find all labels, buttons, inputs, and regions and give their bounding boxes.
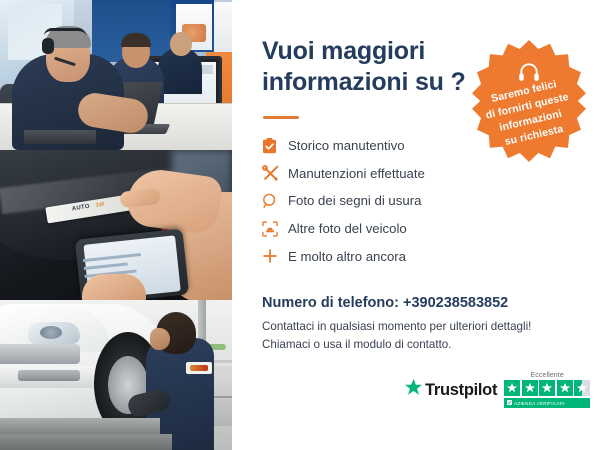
feature-label: E molto altro ancora [288, 249, 406, 264]
contact-line-2: Chiamaci o usa il modulo di contatto. [262, 338, 451, 351]
tools-cross-icon [262, 165, 288, 182]
contact-line-1: Contattaci in qualsiasi momento per ulte… [262, 320, 531, 333]
trustpilot-name: Trustpilot [425, 381, 497, 400]
star-5-half-icon [574, 380, 590, 396]
call-center-agents-photo [0, 0, 232, 150]
trustpilot-widget[interactable]: Trustpilot Eccellente [404, 372, 590, 408]
feature-label: Altre foto del veicolo [288, 221, 407, 236]
trustpilot-rating: Eccellente [504, 372, 590, 408]
photo-column [0, 0, 232, 450]
trustpilot-star-icon [404, 378, 423, 402]
plus-icon [262, 248, 288, 264]
feature-list: Storico manutentivo Manutenzioni effettu… [262, 132, 512, 270]
star-4-icon [557, 380, 573, 396]
title-divider [263, 116, 299, 119]
star-1-icon [504, 380, 520, 396]
headline-line-1: Vuoi maggiori [262, 37, 425, 65]
trustpilot-rating-word: Eccellente [504, 372, 590, 379]
feature-label: Storico manutentivo [288, 138, 405, 153]
clipboard-check-icon [262, 138, 288, 154]
garage-tyre-service-photo [0, 300, 232, 450]
magnifier-icon [262, 193, 288, 209]
content-panel: Vuoi maggiori informazioni su ? Saremo f… [232, 0, 600, 450]
feature-item-storico: Storico manutentivo [262, 132, 512, 160]
star-2-icon [522, 380, 538, 396]
feature-label: Manutenzioni effettuate [288, 166, 425, 181]
trustpilot-logo: Trustpilot [404, 378, 497, 402]
promo-banner: Vuoi maggiori informazioni su ? Saremo f… [0, 0, 600, 450]
verified-label: AZIENDA VERIFICATA [514, 401, 565, 406]
headline-line-2: informazioni su ? [262, 68, 466, 96]
car-scan-icon [262, 221, 288, 237]
verified-badge: AZIENDA VERIFICATA [504, 398, 590, 408]
verified-check-icon [507, 400, 512, 406]
feature-item-foto-usura: Foto dei segni di usura [262, 187, 512, 215]
feature-item-manutenzioni: Manutenzioni effettuate [262, 160, 512, 188]
feature-label: Foto dei segni di usura [288, 193, 421, 208]
page-title: Vuoi maggiori informazioni su ? [262, 36, 492, 97]
phone-number-label: Numero di telefono: +390238583852 [262, 295, 508, 311]
vehicle-inspection-tablet-photo [0, 150, 232, 300]
trustpilot-stars [504, 380, 590, 396]
feature-item-altre-foto: Altre foto del veicolo [262, 215, 512, 243]
star-3-icon [539, 380, 555, 396]
feature-item-altro-ancora: E molto altro ancora [262, 242, 512, 270]
